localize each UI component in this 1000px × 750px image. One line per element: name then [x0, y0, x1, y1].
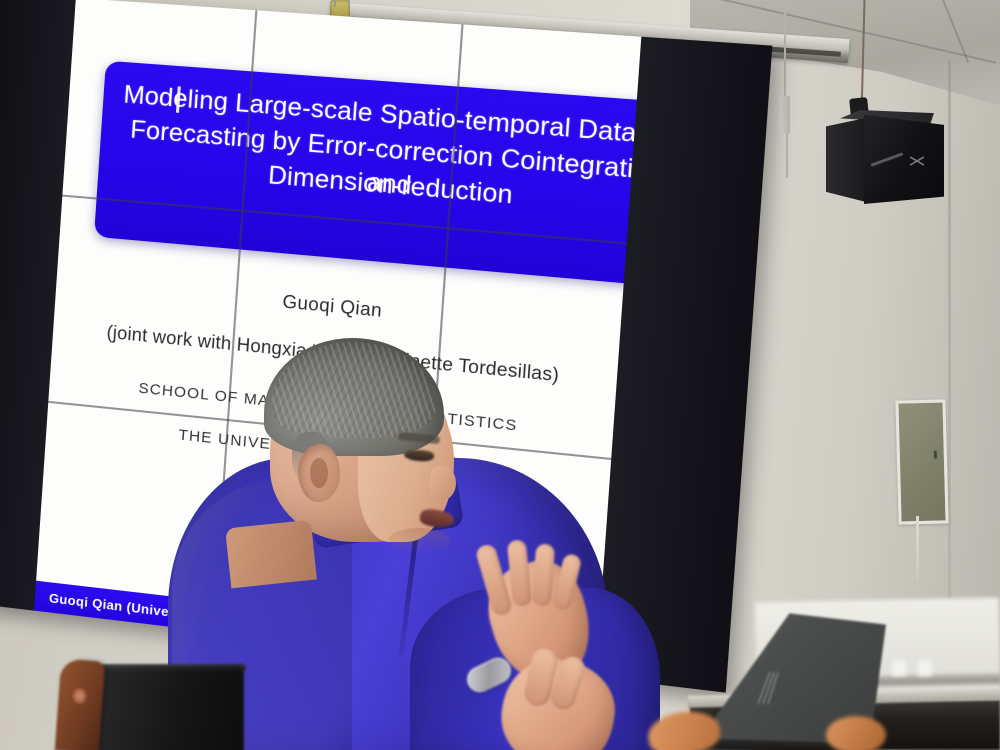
chair-leather-back: [94, 666, 244, 750]
panel-cord: [916, 516, 919, 582]
hand-near-laptop: [826, 716, 886, 750]
speaker-left-face: [826, 118, 866, 202]
wire-bracket: [780, 96, 790, 134]
hanging-wire: [784, 0, 786, 100]
wall-notice-panel: [895, 399, 948, 524]
laptop-sticker-icon: [756, 668, 786, 706]
chair-wooden-arm: [55, 659, 105, 750]
chair[interactable]: [58, 660, 248, 750]
chair-highlight: [72, 687, 87, 704]
slide-title-banner: Modeling Large-scale Spatio-temporal Dat…: [94, 61, 641, 289]
nose: [430, 466, 456, 500]
speaker-brand-logo-icon: [910, 156, 924, 166]
lecture-room-photo: Modeling Large-scale Spatio-temporal Dat…: [0, 0, 1000, 750]
presenter-neck: [225, 520, 317, 589]
speaker-front-grille: [864, 112, 944, 204]
chin-shading: [388, 528, 450, 554]
hanging-wire: [786, 134, 788, 178]
ear-inner: [310, 458, 328, 488]
whiteboard-marker: [892, 660, 906, 676]
ceiling-speaker-box: [826, 112, 944, 204]
whiteboard-marker: [918, 660, 932, 676]
panel-latch-icon: [934, 451, 937, 459]
